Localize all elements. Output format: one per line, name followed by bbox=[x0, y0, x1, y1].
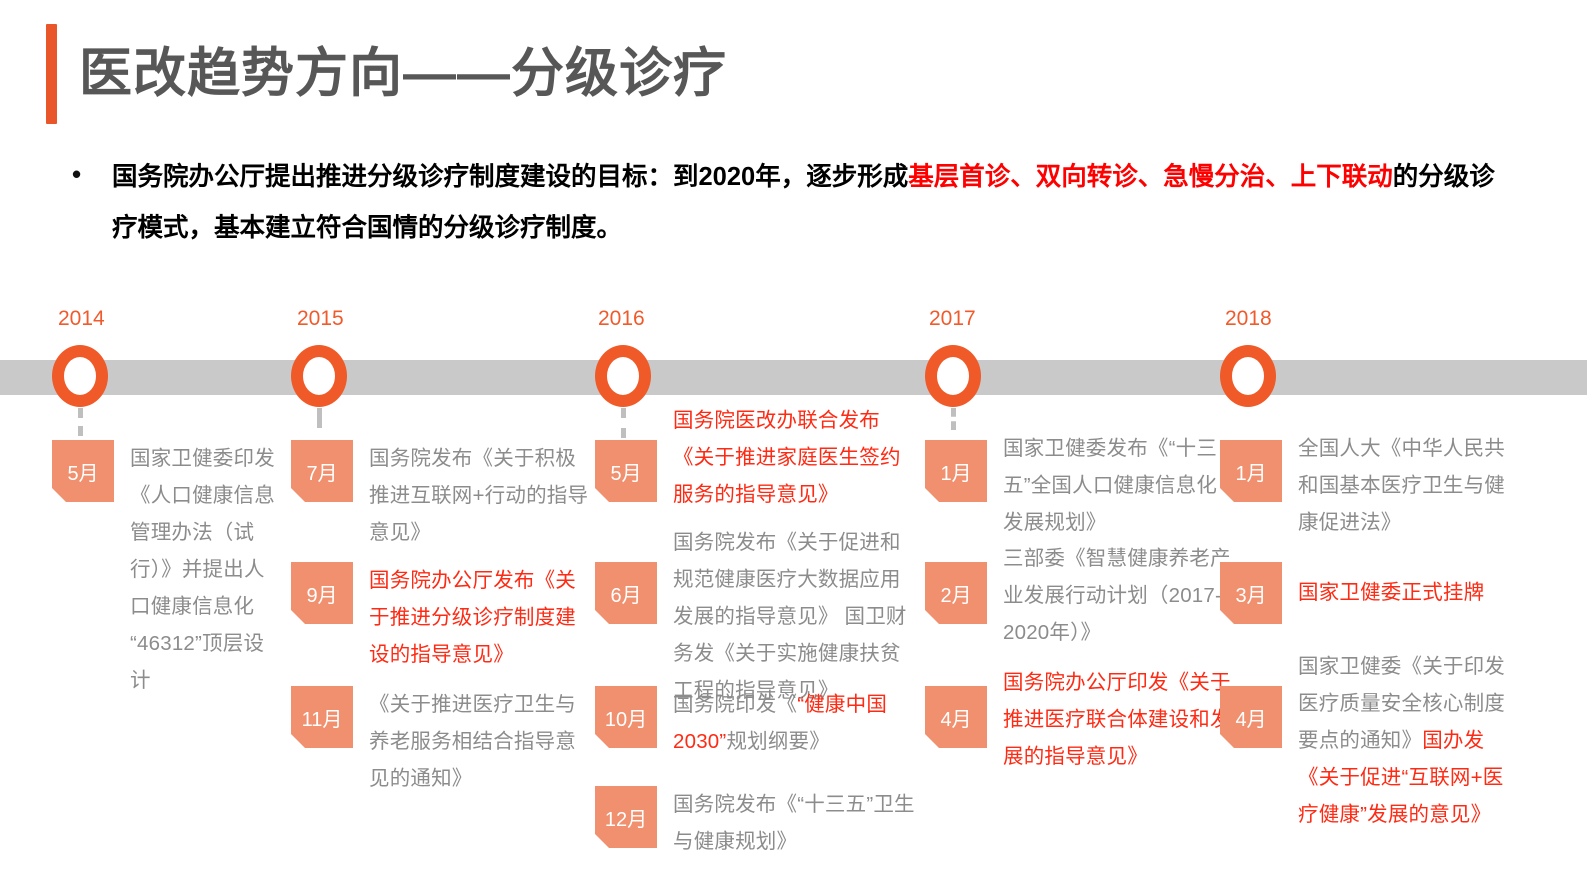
entry-text: 国家卫健委发布《“十三五”全国人口健康信息化发展规划》 bbox=[1003, 430, 1231, 541]
timeline-entry[interactable]: 2月 三部委《智慧健康养老产业发展行动计划（2017-2020年）》 bbox=[925, 562, 1231, 651]
entry-text: 国家卫健委印发《人口健康信息管理办法（试行）》并提出人口健康信息化“46312”… bbox=[130, 440, 280, 699]
entry-text: 国务院医改办联合发布《关于推进家庭医生签约服务的指导意见》 bbox=[673, 402, 918, 513]
page-title: 医改趋势方向——分级诊疗 bbox=[79, 24, 727, 124]
title-accent-bar bbox=[46, 24, 57, 124]
month-badge: 3月 bbox=[1220, 562, 1282, 624]
connector-2016 bbox=[621, 408, 626, 438]
entry-text: 三部委《智慧健康养老产业发展行动计划（2017-2020年）》 bbox=[1003, 540, 1231, 651]
timeline-node-2014[interactable] bbox=[52, 345, 108, 407]
entry-text: 国务院发布《关于积极推进互联网+行动的指导意见》 bbox=[369, 440, 589, 551]
timeline-node-2017[interactable] bbox=[925, 345, 981, 407]
year-label-2017: 2017 bbox=[929, 307, 976, 331]
bullet-segment-2-highlight: 基层首诊、双向转诊、急慢分治、上下联动 bbox=[908, 163, 1393, 191]
connector-2015 bbox=[317, 408, 322, 428]
bullet-segment-1: 国务院办公厅提出推进分级诊疗制度建设的目标：到2020年，逐步形成 bbox=[112, 163, 908, 191]
month-badge: 10月 bbox=[595, 686, 657, 748]
month-badge: 12月 bbox=[595, 786, 657, 848]
entry-text: 国务院发布《关于促进和规范健康医疗大数据应用发展的指导意见》 国卫财务发《关于实… bbox=[673, 524, 918, 709]
timeline-entry[interactable]: 1月 国家卫健委发布《“十三五”全国人口健康信息化发展规划》 bbox=[925, 440, 1231, 541]
year-label-2015: 2015 bbox=[297, 307, 344, 331]
year-label-2018: 2018 bbox=[1225, 307, 1272, 331]
year-label-2014: 2014 bbox=[58, 307, 105, 331]
year-label-2016: 2016 bbox=[598, 307, 645, 331]
page-title-block: 医改趋势方向——分级诊疗 bbox=[46, 24, 727, 124]
timeline-entry[interactable]: 4月 国务院办公厅印发《关于推进医疗联合体建设和发展的指导意见》 bbox=[925, 686, 1231, 775]
timeline-band bbox=[0, 360, 1587, 395]
timeline-entry[interactable]: 5月 国务院医改办联合发布《关于推进家庭医生签约服务的指导意见》 bbox=[595, 440, 918, 513]
connector-2014 bbox=[78, 408, 83, 436]
month-badge: 9月 bbox=[291, 562, 353, 624]
timeline-entry[interactable]: 4月 国家卫健委《关于印发医疗质量安全核心制度要点的通知》国办发《关于促进“互联… bbox=[1220, 686, 1520, 833]
bullet-paragraph: 国务院办公厅提出推进分级诊疗制度建设的目标：到2020年，逐步形成基层首诊、双向… bbox=[112, 152, 1512, 254]
timeline-node-2018[interactable] bbox=[1220, 345, 1276, 407]
bullet-marker: • bbox=[72, 152, 112, 196]
month-badge: 1月 bbox=[925, 440, 987, 502]
timeline-entry[interactable]: 11月 《关于推进医疗卫生与养老服务相结合指导意见的通知》 bbox=[291, 686, 589, 797]
entry-text: 国务院办公厅印发《关于推进医疗联合体建设和发展的指导意见》 bbox=[1003, 664, 1231, 775]
timeline-entry[interactable]: 9月 国务院办公厅发布《关于推进分级诊疗制度建设的指导意见》 bbox=[291, 562, 589, 673]
month-badge: 5月 bbox=[52, 440, 114, 502]
timeline-entry[interactable]: 1月 全国人大《中华人民共和国基本医疗卫生与健康促进法》 bbox=[1220, 440, 1520, 541]
entry-text: 国务院办公厅发布《关于推进分级诊疗制度建设的指导意见》 bbox=[369, 562, 589, 673]
entry-text-part: 国务院印发《 bbox=[673, 693, 797, 716]
timeline-entry[interactable]: 12月 国务院发布《“十三五”卫生与健康规划》 bbox=[595, 786, 918, 860]
bullet-row: • 国务院办公厅提出推进分级诊疗制度建设的目标：到2020年，逐步形成基层首诊、… bbox=[72, 152, 1522, 254]
timeline-node-2015[interactable] bbox=[291, 345, 347, 407]
entry-text: 《关于推进医疗卫生与养老服务相结合指导意见的通知》 bbox=[369, 686, 589, 797]
month-badge: 4月 bbox=[925, 686, 987, 748]
timeline-entry[interactable]: 10月 国务院印发《“健康中国2030”规划纲要》 bbox=[595, 686, 918, 760]
connector-2017 bbox=[951, 408, 956, 430]
timeline-entry[interactable]: 7月 国务院发布《关于积极推进互联网+行动的指导意见》 bbox=[291, 440, 589, 551]
month-badge: 6月 bbox=[595, 562, 657, 624]
entry-text-mixed: 国务院印发《“健康中国2030”规划纲要》 bbox=[673, 686, 918, 760]
timeline-node-2016[interactable] bbox=[595, 345, 651, 407]
timeline-entry[interactable]: 5月 国家卫健委印发《人口健康信息管理办法（试行）》并提出人口健康信息化“463… bbox=[52, 440, 280, 699]
month-badge: 2月 bbox=[925, 562, 987, 624]
entry-text: 全国人大《中华人民共和国基本医疗卫生与健康促进法》 bbox=[1298, 430, 1520, 541]
month-badge: 1月 bbox=[1220, 440, 1282, 502]
month-badge: 5月 bbox=[595, 440, 657, 502]
entry-text-part: 规划纲要》 bbox=[726, 730, 830, 753]
month-badge: 11月 bbox=[291, 686, 353, 748]
entry-text: 国务院发布《“十三五”卫生与健康规划》 bbox=[673, 786, 918, 860]
month-badge: 7月 bbox=[291, 440, 353, 502]
month-badge: 4月 bbox=[1220, 686, 1282, 748]
entry-text: 国家卫健委正式挂牌 bbox=[1298, 574, 1520, 611]
entry-text-mixed: 国家卫健委《关于印发医疗质量安全核心制度要点的通知》国办发《关于促进“互联网+医… bbox=[1298, 648, 1520, 833]
timeline-entry[interactable]: 3月 国家卫健委正式挂牌 bbox=[1220, 562, 1520, 624]
